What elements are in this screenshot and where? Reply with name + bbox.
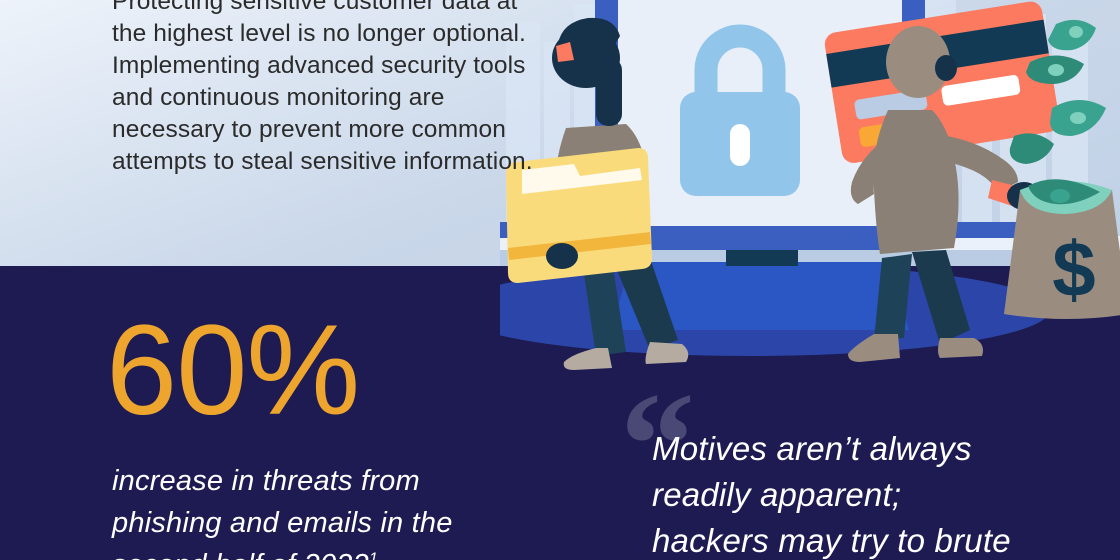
stat-caption: increase in threats from phishing and em… [112, 460, 512, 560]
stat-caption-line3: second half of 2022 [112, 549, 369, 560]
stat-value: 60% [106, 312, 359, 430]
stat-caption-line1: increase in threats from [112, 465, 420, 497]
pull-quote-text: Motives aren’t always readily apparent; … [652, 426, 1120, 560]
footnote-marker: 1 [369, 550, 378, 560]
infographic-canvas: $ Protecting sensitive customer data at … [0, 0, 1120, 560]
pull-quote-line1: Motives aren’t always [652, 430, 972, 467]
svg-text:$: $ [1052, 225, 1095, 313]
stat-caption-line2: phishing and emails in the [112, 507, 453, 539]
body-paragraph: Protecting sensitive customer data at th… [112, 0, 542, 178]
pull-quote-line3: hackers may try to brute [652, 522, 1011, 559]
hero-illustration: $ [500, 0, 1120, 370]
pull-quote-line2: readily apparent; [652, 476, 901, 513]
